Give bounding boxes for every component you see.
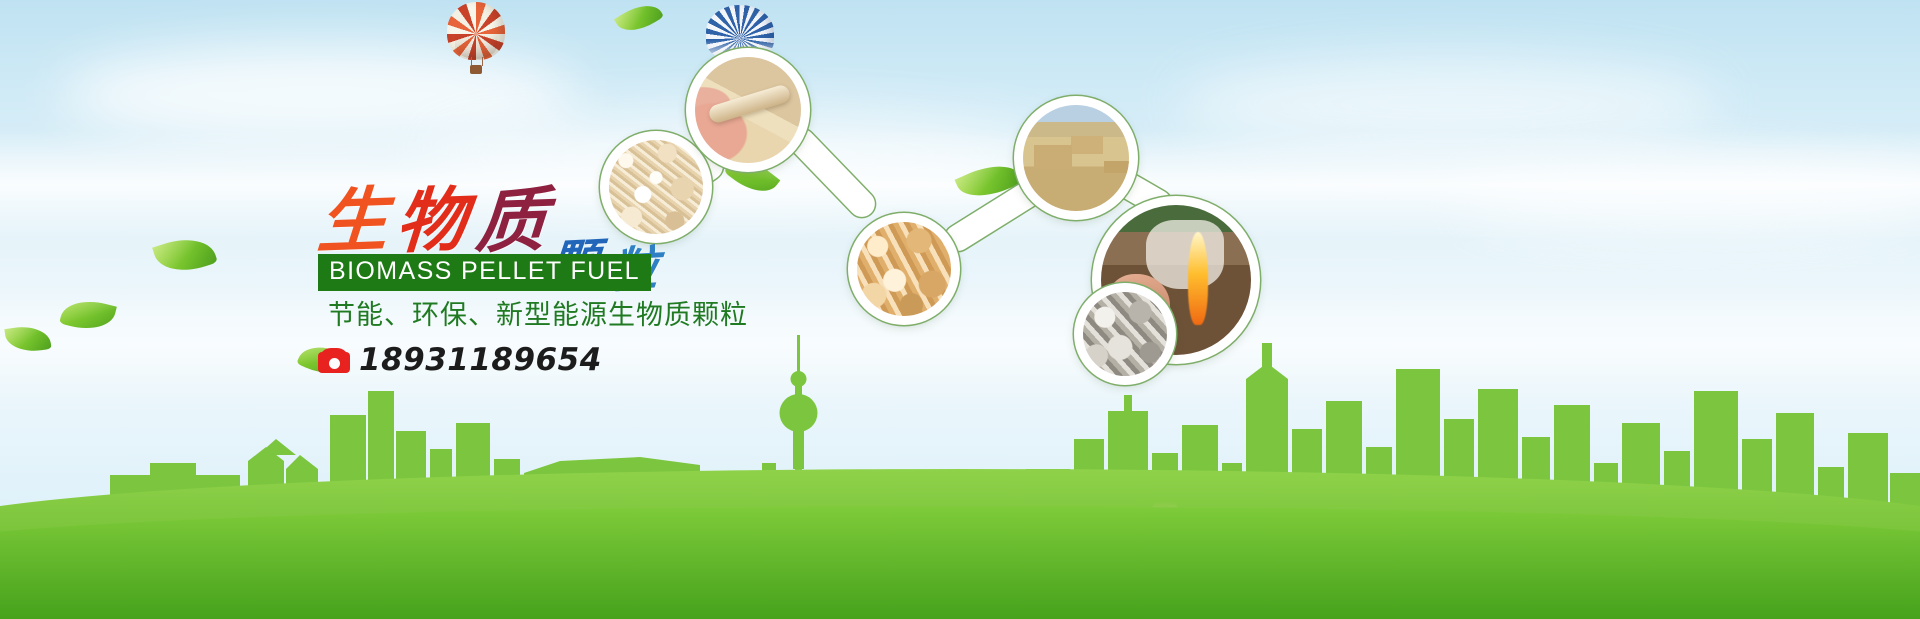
title-char-1: 生 [315,181,391,261]
hay-bales-field-image [1023,105,1129,211]
hot-air-balloon-icon [447,2,505,74]
balloon-envelope [447,2,505,60]
pellet-in-hand-image [695,57,801,163]
photo-bubble-pellet-in-hand[interactable] [686,48,810,172]
telephone-dial [329,358,340,369]
grass-front-hill [0,507,1920,619]
phone-number: 18931189654 [359,344,602,377]
headline-block: 生 物 质 颗 粒 BIOMASS PELLET FUEL 节能、环保、新型能源… [318,182,788,264]
leaf-icon [614,0,664,40]
balloon-basket [470,65,482,74]
english-tagline: BIOMASS PELLET FUEL [329,257,640,285]
green-grass-hills [0,459,1920,619]
telephone-icon [318,348,350,373]
english-tagline-bar: BIOMASS PELLET FUEL [318,254,651,291]
title-char-2: 物 [393,181,469,261]
chinese-subtitle: 节能、环保、新型能源生物质颗粒 [328,300,748,332]
photo-bubble-hay-bales-field[interactable] [1014,96,1138,220]
contact-phone-row[interactable]: 18931189654 [318,344,602,377]
chinese-title: 生 物 质 颗 粒 [318,182,788,264]
biomass-pellet-fuel-banner: 生 物 质 颗 粒 BIOMASS PELLET FUEL 节能、环保、新型能源… [0,0,1920,619]
title-char-3: 质 [473,181,549,261]
